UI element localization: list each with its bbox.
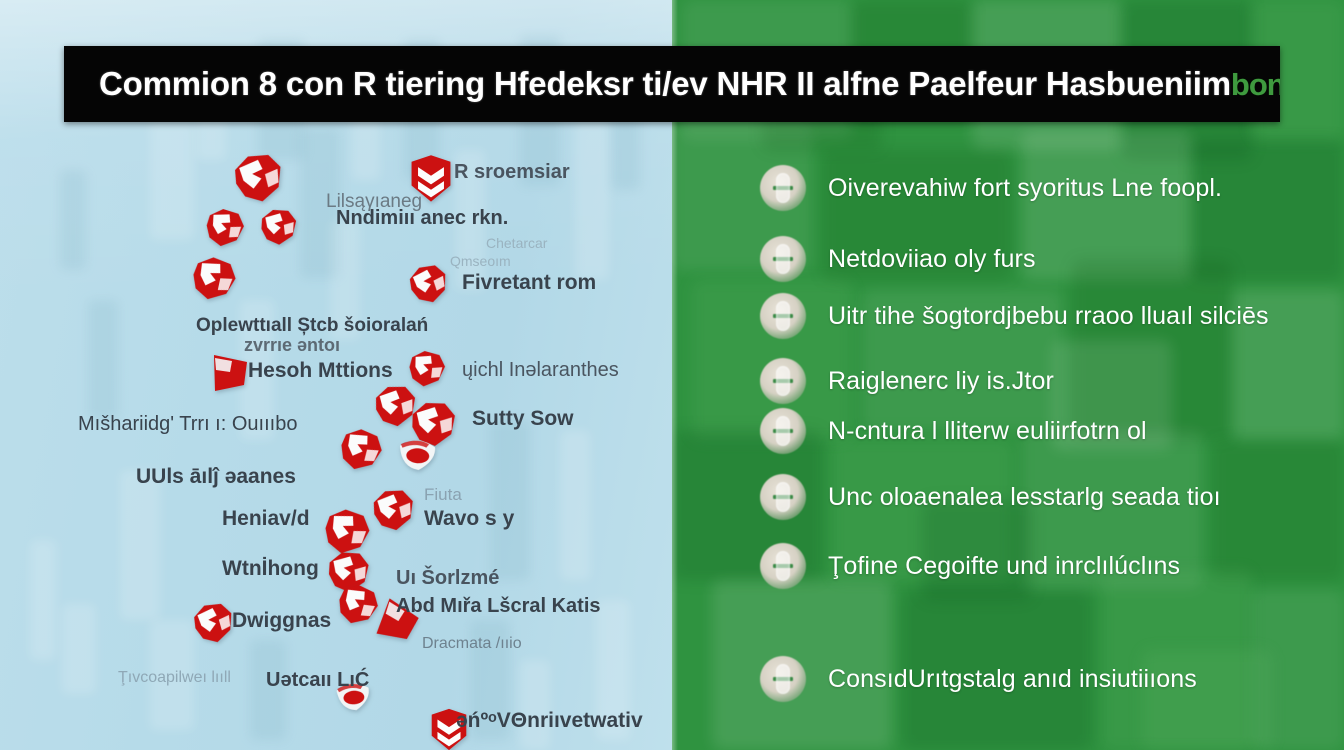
map-label: Chetarcar: [486, 236, 547, 251]
map-label: Dracmata /ııio: [422, 636, 522, 653]
map-label: Abd Mıřa Lšcral Katis: [396, 596, 601, 617]
title-bar: Commion 8 con R tiering Hfedeksr ti/ev N…: [64, 46, 1280, 122]
bullet-item-label: Unc oloaenalea lesstarlg seada tioı: [828, 483, 1221, 512]
bullet-item-label: Ţofine Cegoifte und inrclılúclıns: [828, 552, 1180, 581]
page-title-accent: bon: [1231, 67, 1280, 102]
green-texture-patch: [1212, 440, 1344, 580]
page-title-main: Commion 8 con R tiering Hfedeksr ti/ev N…: [99, 65, 1231, 102]
map-label: ųichl Inəlaranthes: [462, 360, 619, 381]
bullet-item[interactable]: N-cntura l lliterw euliirfotrn ol: [760, 405, 1147, 457]
map-ghost-shape: [62, 604, 96, 694]
lock-circle-icon: [760, 236, 806, 282]
bullet-item[interactable]: ConsıdUrıtgstalg anıd insiutiiıons: [760, 653, 1197, 705]
lock-circle-icon: [760, 656, 806, 702]
bullet-item-label: Oiverevahiw fort syoritus Lne foopl.: [828, 174, 1222, 203]
page-title: Commion 8 con R tiering Hfedeksr ti/ev N…: [64, 65, 1280, 103]
map-ghost-shape: [490, 420, 530, 580]
map-ghost-shape: [150, 120, 194, 240]
bullet-item[interactable]: Ţofine Cegoifte und inrclılúclıns: [760, 540, 1180, 592]
map-ghost-shape: [88, 300, 118, 420]
lock-circle-icon: [760, 358, 806, 404]
bullet-item-label: ConsıdUrıtgstalg anıd insiutiiıons: [828, 665, 1197, 694]
map-label: UUls āılĵ əaanes: [136, 466, 296, 488]
lock-circle-icon: [760, 543, 806, 589]
bullet-item[interactable]: Unc oloaenalea lesstarlg seada tioı: [760, 471, 1221, 523]
lock-circle-icon: [760, 293, 806, 339]
map-label: Ţıvcoapilweı lııll: [118, 670, 231, 687]
lock-circle-icon: [760, 474, 806, 520]
map-label: R sroemsiar: [454, 162, 570, 183]
map-ghost-shape: [520, 660, 550, 750]
bullet-item-label: Netdoviiao oly furs: [828, 245, 1036, 274]
lock-circle-icon: [760, 165, 806, 211]
map-label: Uətcaıı LıĆ: [266, 670, 369, 691]
map-label: Wavo s y: [424, 508, 514, 530]
map-label: Wtnİhong: [222, 558, 319, 580]
bullet-item[interactable]: Netdoviiao oly furs: [760, 233, 1036, 285]
map-ghost-shape: [60, 170, 86, 270]
slide-canvas: R sroemsiarLilsąγıanegNndimiıı anec rkn.…: [0, 0, 1344, 750]
map-label: əńºᵒVΘnriıvetwativ: [456, 710, 643, 732]
map-label: Dwiggnas: [232, 610, 331, 632]
map-ghost-shape: [30, 540, 56, 660]
map-label: Sutty Sow: [472, 408, 574, 430]
bullet-item-label: N-cntura l lliterw euliirfotrn ol: [828, 417, 1147, 446]
map-label: Fiuta: [424, 486, 462, 504]
map-label: Qmseoım: [450, 254, 511, 269]
map-marker-icon: [222, 143, 296, 212]
map-label: Hesoh Mttions: [248, 360, 393, 382]
bullet-item[interactable]: Oiverevahiw fort syoritus Lne foopl.: [760, 162, 1222, 214]
map-ghost-shape: [560, 430, 590, 580]
lock-circle-icon: [760, 408, 806, 454]
map-marker-icon: [181, 249, 246, 310]
map-label: Fivretant rom: [462, 272, 596, 294]
map-label: Nndimiıı anec rkn.: [336, 208, 508, 229]
map-label: Uı Šorlzmé: [396, 568, 499, 589]
bullet-item-label: Uitr tihe šogtordjbebu rraoo lluaıl silc…: [828, 302, 1269, 331]
map-marker-icon: [250, 203, 308, 250]
map-marker-icon: [387, 430, 448, 478]
map-label: Mıšhariidg' Trrı ı: Ouıııbo: [78, 414, 297, 435]
map-marker-icon: [396, 345, 458, 393]
bullet-item[interactable]: Uitr tihe šogtordjbebu rraoo lluaıl silc…: [760, 290, 1269, 342]
bullet-item[interactable]: Raiglenerc liy is.Jtor: [760, 355, 1054, 407]
bullet-item-label: Raiglenerc liy is.Jtor: [828, 367, 1054, 396]
map-marker-icon: [193, 202, 257, 254]
map-ghost-shape: [575, 120, 609, 280]
map-label: zvrrıe əntoı: [244, 336, 340, 355]
map-label: Heniav/d: [222, 508, 310, 530]
map-ghost-shape: [120, 470, 160, 620]
map-label: Oplewttıall Ștcb šoioralań: [196, 316, 428, 336]
